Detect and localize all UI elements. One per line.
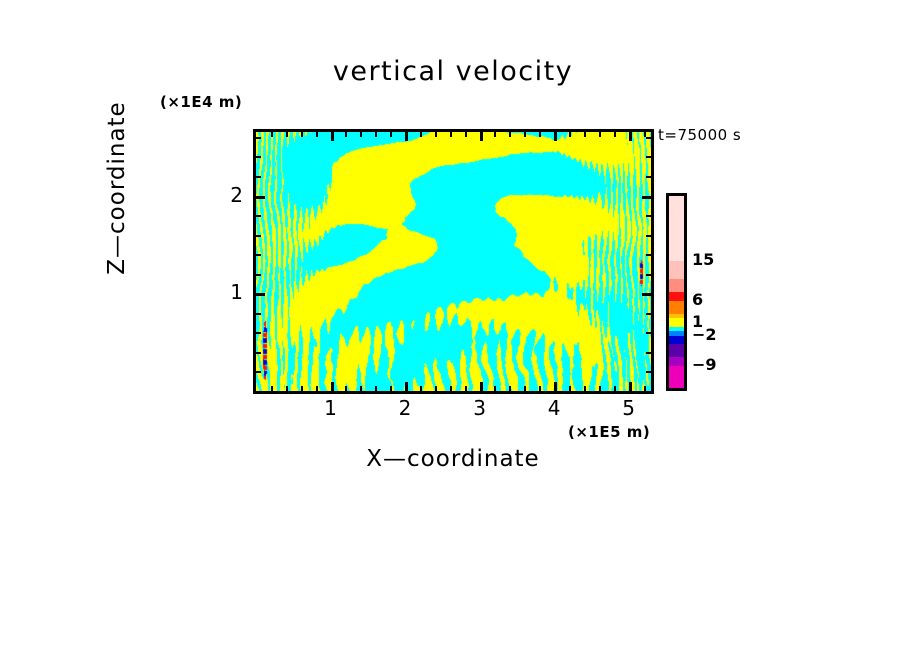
y-tick (256, 313, 261, 315)
x-tick (644, 386, 646, 391)
y-tick-right (646, 274, 651, 276)
y-tick (256, 137, 261, 139)
x-tick (509, 386, 511, 391)
colorbar-band (669, 196, 684, 261)
x-tick (569, 386, 571, 391)
figure-canvas: vertical velocity (×1E4 m) (×1E5 m) X—co… (0, 0, 904, 654)
colorbar (666, 193, 687, 391)
x-tick-top (345, 132, 347, 137)
x-tick (450, 386, 452, 391)
x-tick-top (524, 132, 526, 137)
x-tick-top (569, 132, 571, 137)
x-tick-top (405, 132, 408, 141)
x-tick (375, 386, 377, 391)
x-tick (435, 386, 437, 391)
colorbar-band (669, 292, 684, 301)
y-tick (256, 274, 261, 276)
x-tick-top (584, 132, 586, 137)
x-tick-top (331, 132, 334, 141)
x-tick (629, 382, 632, 391)
y-tick-right (646, 313, 651, 315)
x-tick (316, 386, 318, 391)
x-tick-top (286, 132, 288, 137)
colorbar-label: −9 (692, 355, 717, 374)
x-tick (301, 386, 303, 391)
colorbar-band (669, 336, 684, 345)
colorbar-band (669, 366, 684, 388)
y-axis-title: Z—coordinate (104, 68, 130, 308)
x-tick-top (554, 132, 557, 141)
x-tick (390, 386, 392, 391)
y-tick-right (646, 235, 651, 237)
y-tick (256, 352, 261, 354)
x-tick-top (271, 132, 273, 137)
x-tick (271, 386, 273, 391)
y-tick (256, 235, 261, 237)
colorbar-band (669, 357, 684, 366)
colorbar-band (669, 344, 684, 357)
time-annotation: t=75000 s (658, 126, 741, 144)
vertical-velocity-field (256, 132, 651, 391)
y-tick-right (646, 215, 651, 217)
y-tick (256, 254, 261, 256)
y-tick-right (646, 254, 651, 256)
x-tick (584, 386, 586, 391)
x-tick-top (494, 132, 496, 137)
x-tick-top (375, 132, 377, 137)
x-tick (554, 382, 557, 391)
x-tick-top (420, 132, 422, 137)
x-tick-top (435, 132, 437, 137)
colorbar-band (669, 261, 684, 278)
x-tick (420, 386, 422, 391)
x-tick-top (614, 132, 616, 137)
y-tick-right (646, 332, 651, 334)
x-tick (539, 386, 541, 391)
y-axis-unit-label: (×1E4 m) (160, 93, 242, 111)
y-tick-right (646, 352, 651, 354)
colorbar-band (669, 279, 684, 292)
y-tick-right (646, 176, 651, 178)
x-tick-top (360, 132, 362, 137)
colorbar-label: 6 (692, 290, 703, 309)
y-tick (256, 196, 265, 199)
x-tick-top (599, 132, 601, 137)
x-tick-label: 3 (465, 396, 495, 420)
y-tick (256, 332, 261, 334)
y-tick-label: 2 (213, 183, 243, 207)
y-tick (256, 293, 265, 296)
y-tick-right (646, 371, 651, 373)
x-tick (405, 382, 408, 391)
y-tick-right (646, 137, 651, 139)
x-tick (494, 386, 496, 391)
x-tick (465, 386, 467, 391)
colorbar-label: 15 (692, 250, 714, 269)
x-tick-top (316, 132, 318, 137)
x-tick-top (480, 132, 483, 141)
x-tick-top (450, 132, 452, 137)
y-tick (256, 371, 261, 373)
y-tick (256, 176, 261, 178)
x-tick-top (539, 132, 541, 137)
x-tick (286, 386, 288, 391)
x-tick-label: 4 (539, 396, 569, 420)
x-tick-top (629, 132, 632, 141)
y-tick-right (642, 293, 651, 296)
x-tick-top (301, 132, 303, 137)
x-tick (599, 386, 601, 391)
x-tick-top (465, 132, 467, 137)
y-tick-label: 1 (213, 280, 243, 304)
y-tick (256, 156, 261, 158)
x-tick (331, 382, 334, 391)
x-tick (480, 382, 483, 391)
colorbar-band (669, 301, 684, 314)
y-tick (256, 215, 261, 217)
x-tick (614, 386, 616, 391)
colorbar-label: −2 (692, 325, 717, 344)
x-tick (524, 386, 526, 391)
x-axis-unit-label: (×1E5 m) (568, 423, 650, 441)
x-tick (360, 386, 362, 391)
y-tick-right (642, 196, 651, 199)
y-tick-right (646, 156, 651, 158)
x-tick-label: 1 (316, 396, 346, 420)
x-tick-top (390, 132, 392, 137)
contour-plot-area (253, 129, 654, 394)
x-tick (345, 386, 347, 391)
x-tick-top (509, 132, 511, 137)
x-tick-label: 5 (614, 396, 644, 420)
x-axis-title: X—coordinate (253, 446, 653, 472)
page-title: vertical velocity (253, 56, 653, 87)
x-tick-label: 2 (390, 396, 420, 420)
